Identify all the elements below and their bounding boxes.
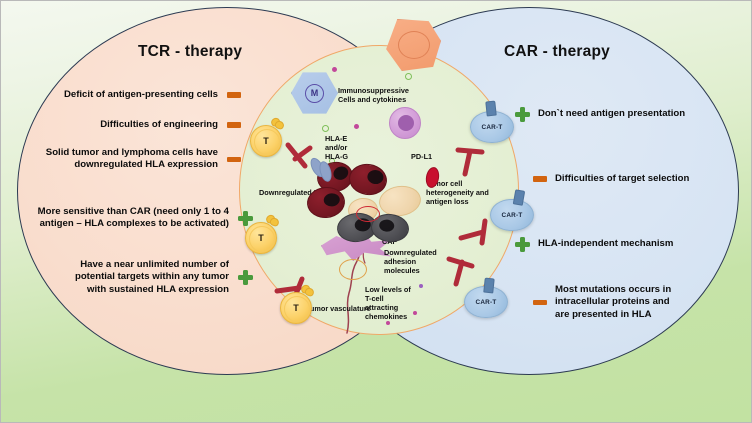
car-t-cell-label: CAR-T bbox=[476, 299, 497, 306]
car-bullet-2-text: Difficulties of target selection bbox=[555, 173, 689, 185]
minus-icon bbox=[533, 300, 547, 306]
car-t-cell-label: CAR-T bbox=[502, 212, 523, 219]
plus-icon bbox=[238, 270, 253, 285]
minus-icon bbox=[227, 122, 241, 128]
inhibition-symbol bbox=[456, 217, 492, 247]
immunosuppressive-cell-purple bbox=[389, 107, 421, 139]
cytokine-dot bbox=[419, 284, 423, 288]
tcr-bullet-3: Solid tumor and lymphoma cells have down… bbox=[11, 147, 241, 172]
figure-canvas: TCR - therapy CAR - therapy Deficit of a… bbox=[0, 0, 752, 423]
cytokine-dot bbox=[386, 321, 390, 325]
plus-icon bbox=[515, 237, 530, 252]
t-cell-label: T bbox=[263, 136, 269, 146]
tcr-bullet-2-text: Difficulties of engineering bbox=[100, 119, 218, 131]
label-low-chemokines: Low levels of T-cell attracting chemokin… bbox=[365, 285, 411, 321]
plus-icon bbox=[238, 211, 253, 226]
car-bullet-3: HLA-independent mechanism bbox=[515, 237, 735, 252]
minus-icon bbox=[533, 176, 547, 182]
tcr-bullet-1-text: Deficit of antigen-presenting cells bbox=[64, 89, 218, 101]
plus-icon bbox=[515, 107, 530, 122]
tcr-receptor-icon bbox=[301, 285, 312, 296]
t-cell: T bbox=[250, 125, 282, 157]
car-bullet-4-text: Most mutations occurs in intracellular p… bbox=[555, 284, 671, 321]
label-tumor-vasculature: Tumor vasculature bbox=[306, 304, 371, 313]
tcr-therapy-title: TCR - therapy bbox=[138, 43, 242, 61]
tumor-antigen-loop bbox=[356, 206, 380, 222]
tcr-bullet-4-text: More sensitive than CAR (need only 1 to … bbox=[38, 206, 229, 231]
label-immunosuppressive-cells: Immunosuppressive Cells and cytokines bbox=[338, 86, 409, 104]
cell-nucleus bbox=[398, 115, 414, 131]
car-receptor-icon bbox=[483, 278, 495, 294]
macrophage-label: M bbox=[305, 84, 324, 103]
car-t-cell-label: CAR-T bbox=[482, 124, 503, 131]
tcr-bullet-4: More sensitive than CAR (need only 1 to … bbox=[1, 206, 253, 231]
cytokine-dot bbox=[405, 73, 412, 80]
car-bullet-2: Difficulties of target selection bbox=[533, 173, 752, 185]
minus-icon bbox=[227, 157, 241, 163]
tcr-bullet-2: Difficulties of engineering bbox=[45, 119, 241, 131]
car-receptor-icon bbox=[485, 101, 497, 117]
cytokine-dot bbox=[354, 124, 359, 129]
inhibition-symbol bbox=[443, 254, 479, 288]
car-bullet-1-text: Don`t need antigen presentation bbox=[538, 108, 685, 120]
car-bullet-4: Most mutations occurs in intracellular p… bbox=[533, 284, 743, 321]
car-therapy-title: CAR - therapy bbox=[504, 43, 610, 61]
t-cell: T bbox=[245, 222, 277, 254]
t-cell-label: T bbox=[293, 303, 299, 313]
tcr-bullet-5-text: Have a near unlimited number of potentia… bbox=[75, 259, 229, 296]
cytokine-dot bbox=[322, 125, 329, 132]
tcr-bullet-3-text: Solid tumor and lymphoma cells have down… bbox=[46, 147, 218, 172]
tcr-receptor-icon bbox=[266, 215, 277, 226]
car-bullet-3-text: HLA-independent mechanism bbox=[538, 238, 673, 250]
tcr-receptor-icon bbox=[271, 118, 282, 129]
inhibition-symbol bbox=[453, 144, 487, 180]
tcr-bullet-1: Deficit of antigen-presenting cells bbox=[45, 89, 241, 101]
cytokine-dot bbox=[332, 67, 337, 72]
t-cell: T bbox=[280, 292, 312, 324]
adhesion-molecule-ring bbox=[339, 259, 367, 280]
car-bullet-1: Don`t need antigen presentation bbox=[515, 107, 745, 122]
t-cell-label: T bbox=[258, 233, 264, 243]
cell-nucleus bbox=[398, 31, 430, 59]
minus-icon bbox=[227, 92, 241, 98]
cytokine-dot bbox=[413, 311, 417, 315]
tcr-bullet-5: Have a near unlimited number of potentia… bbox=[19, 259, 253, 296]
